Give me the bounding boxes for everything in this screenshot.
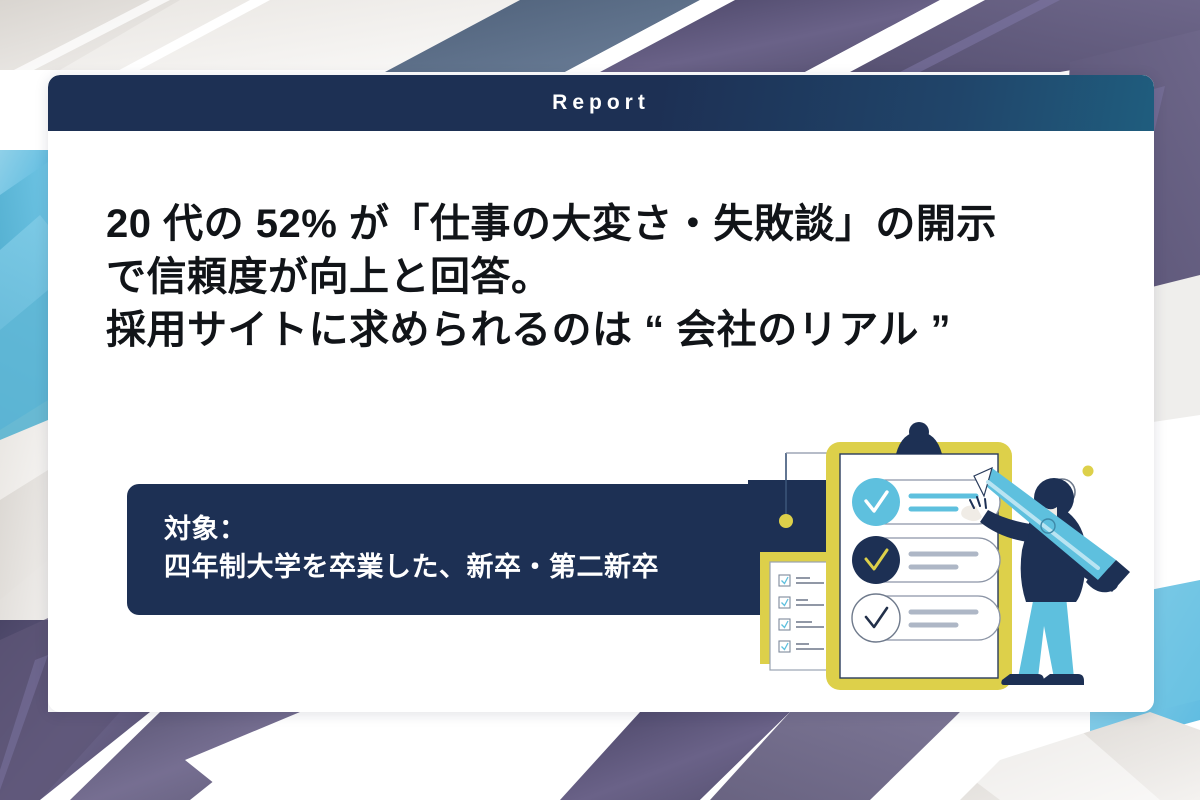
yellow-dot-icon [779,514,793,528]
clipboard-row-3 [852,594,1000,642]
yellow-accent-dot-icon [1083,466,1094,477]
report-card: Report 20 代の 52% が「仕事の大変さ・失敗談」の開示 で信頼度が向… [48,75,1154,712]
headline-block: 20 代の 52% が「仕事の大変さ・失敗談」の開示 で信頼度が向上と回答。 採… [106,198,1116,358]
report-header-ribbon: Report [48,75,1154,131]
target-audience-callout: 対象： 四年制大学を卒業した、新卒・第二新卒 [127,484,811,615]
headline-line-3: 採用サイトに求められるのは “ 会社のリアル ” [106,304,1116,357]
callout-label: 対象： [164,510,811,548]
headline-line-1: 20 代の 52% が「仕事の大変さ・失敗談」の開示 [106,198,1116,251]
slide-canvas: Report 20 代の 52% が「仕事の大変さ・失敗談」の開示 で信頼度が向… [0,0,1200,800]
headline-line-2: で信頼度が向上と回答。 [106,251,1116,304]
callout-value: 四年制大学を卒業した、新卒・第二新卒 [164,548,811,586]
checklist-illustration [748,420,1148,710]
report-title: Report [552,91,650,115]
clipboard-row-2 [852,536,1000,584]
